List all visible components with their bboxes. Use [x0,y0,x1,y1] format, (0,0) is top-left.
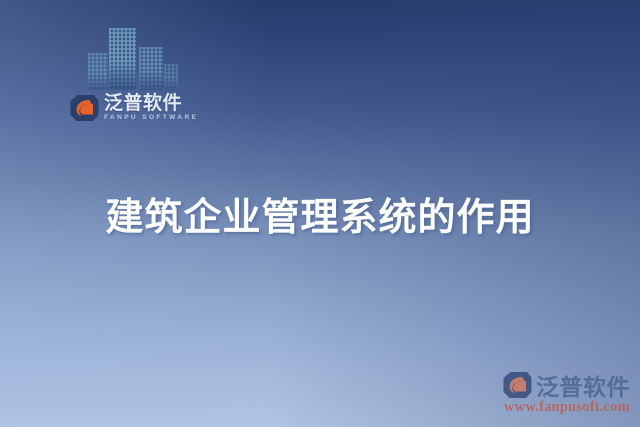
skyline-building-right [139,47,163,90]
watermark-name-cn: 泛普软件 [536,368,630,402]
watermark: 泛普软件 www.fanpusoft.com [502,368,636,416]
slide-canvas: 泛普软件 FANPU SOFTWARE 建筑企业管理系统的作用 泛普软件 www… [0,0,640,427]
brand-name-en: FANPU SOFTWARE [104,115,198,122]
fanpu-logo-icon [502,371,532,399]
fanpu-logo-icon [69,94,99,122]
brand-logo: 泛普软件 FANPU SOFTWARE [69,94,198,122]
watermark-url: www.fanpusoft.com [504,399,636,416]
skyline-building-left [88,53,108,90]
slide-title: 建筑企业管理系统的作用 [0,186,640,241]
brand-text: 泛普软件 FANPU SOFTWARE [104,94,198,122]
skyline-building-center [109,28,136,90]
brand-name-cn: 泛普软件 [104,94,198,113]
city-skyline-icon [88,26,180,90]
watermark-logo-row: 泛普软件 [502,368,636,402]
skyline-building-far [164,64,178,90]
